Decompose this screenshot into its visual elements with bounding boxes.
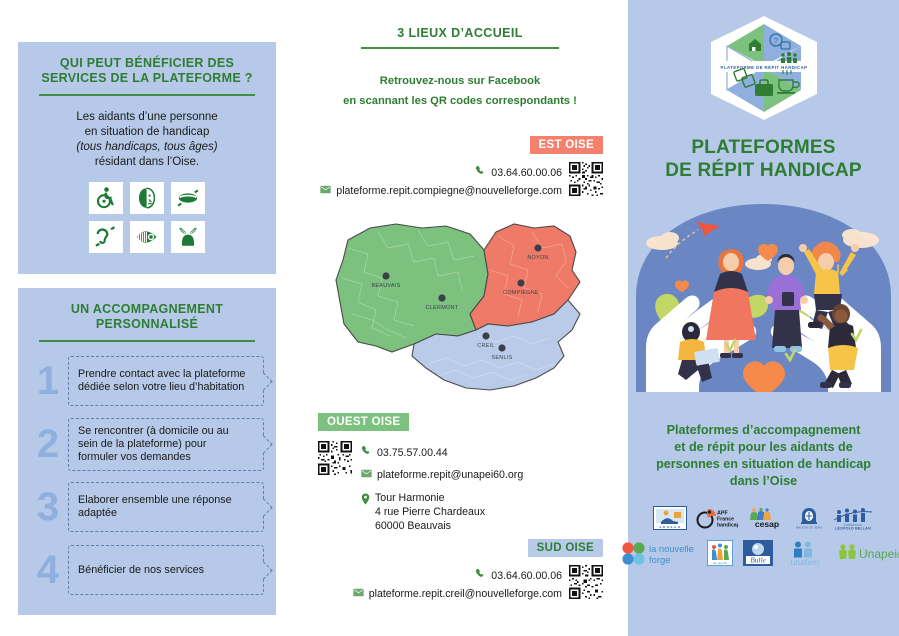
partner-logo-fondation-leopold-bellan: FONDATION LÉOPOLD BELLAN bbox=[831, 506, 875, 530]
steps-title-line2: PERSONNALISÉ bbox=[32, 317, 262, 332]
svg-text:LÉOPOLD BELLAN: LÉOPOLD BELLAN bbox=[835, 525, 871, 530]
who-body-line4: résidant dans l’Oise. bbox=[36, 155, 258, 170]
visual-disability-icon bbox=[130, 221, 164, 253]
step-text: Prendre contact avec la plateforme dédié… bbox=[78, 368, 247, 394]
step-item: 1 Prendre contact avec la plateforme déd… bbox=[28, 356, 264, 406]
disability-icon-grid bbox=[18, 182, 276, 253]
sud-badge-row: SUD OISE bbox=[318, 538, 603, 557]
ouest-phone: 03.75.57.00.44 bbox=[377, 446, 448, 461]
who-body-line1: Les aidants d’une personne bbox=[36, 110, 258, 125]
map-city-label: BEAUVAIS bbox=[372, 283, 401, 289]
step-box: Prendre contact avec la plateforme dédié… bbox=[68, 356, 264, 406]
map-city-marker bbox=[438, 294, 445, 301]
map-city-label: NOYON bbox=[527, 255, 548, 261]
est-oise-badge: EST OISE bbox=[530, 136, 603, 154]
email-icon bbox=[361, 468, 372, 483]
cover-subtitle-line4: dans l’Oise bbox=[636, 473, 891, 490]
personalised-support-panel: UN ACCOMPAGNEMENT PERSONNALISÉ 1 Prendre… bbox=[18, 288, 276, 615]
ouest-address-line1: Tour Harmonie bbox=[375, 491, 485, 505]
sud-contact-row: 03.64.60.00.06 plateforme.repit.creil@no… bbox=[318, 565, 603, 605]
est-contact-row: 03.64.60.00.06 plateforme.repit.compiegn… bbox=[318, 162, 603, 202]
ouest-address-line: Tour Harmonie 4 rue Pierre Chardeaux 600… bbox=[361, 491, 603, 533]
map-city-marker bbox=[534, 244, 541, 251]
ouest-address-line2: 4 rue Pierre Chardeaux bbox=[375, 505, 485, 519]
who-panel-title: QUI PEUT BÉNÉFICIER DES SERVICES DE LA P… bbox=[18, 42, 276, 86]
steps-title-line1: UN ACCOMPAGNEMENT bbox=[32, 302, 262, 317]
svg-text:handicap: handicap bbox=[717, 523, 738, 529]
step-item: 4 Bénéficier de nos services bbox=[28, 545, 264, 595]
map-city-label: CREIL bbox=[477, 343, 494, 349]
svg-text:A.D.S.E.A.O: A.D.S.E.A.O bbox=[659, 525, 681, 529]
facebook-callout-line1: Retrouvez-nous sur Facebook bbox=[300, 71, 620, 91]
ouest-email: plateforme.repit@unapei60.org bbox=[377, 468, 523, 483]
step-item: 2 Se rencontrer (à domicile ou au sein d… bbox=[28, 419, 264, 469]
svg-text:les pep 60: les pep 60 bbox=[713, 561, 727, 565]
cover-subtitle-line2: et de répit pour les aidants de bbox=[636, 439, 891, 456]
step-text: Elaborer ensemble une réponse adaptée bbox=[78, 494, 247, 520]
email-icon bbox=[353, 587, 364, 602]
sud-email: plateforme.repit.creil@nouvelleforge.com bbox=[369, 587, 562, 602]
map-city-marker bbox=[517, 279, 524, 286]
location-pin-icon bbox=[361, 491, 370, 510]
partner-logo-cesap: cesap bbox=[747, 506, 787, 530]
cover-panel: PLATEFORME DE RÉPIT HANDICAP ? bbox=[628, 0, 899, 636]
map-city-label: CLERMONT bbox=[426, 305, 459, 311]
cover-title-line1: PLATEFORMES bbox=[628, 136, 899, 159]
ouest-phone-line: 03.75.57.00.44 bbox=[361, 445, 603, 461]
ouest-oise-qr-code bbox=[318, 441, 352, 475]
cognitive-disability-icon bbox=[171, 221, 205, 253]
est-phone: 03.64.60.00.06 bbox=[491, 166, 562, 181]
locations-title-divider bbox=[361, 47, 559, 49]
ouest-address-line3: 60000 Beauvais bbox=[375, 519, 485, 533]
map-city-marker bbox=[498, 344, 505, 351]
phone-icon bbox=[475, 165, 486, 181]
svg-text:Unapei: Unapei bbox=[859, 547, 897, 561]
who-body-line3: (tous handicaps, tous âges) bbox=[36, 140, 258, 155]
step-item: 3 Elaborer ensemble une réponse adaptée bbox=[28, 482, 264, 532]
partner-logo-pep: les pep 60 bbox=[707, 540, 733, 566]
svg-text:MAISON ST-JEAN: MAISON ST-JEAN bbox=[796, 526, 822, 530]
sud-phone: 03.64.60.00.06 bbox=[491, 569, 562, 584]
cover-title-line2: DE RÉPIT HANDICAP bbox=[628, 159, 899, 182]
email-icon bbox=[320, 184, 331, 199]
cover-subtitle: Plateformes d’accompagnement et de répit… bbox=[628, 422, 899, 490]
oise-department-map: BEAUVAIS CLERMONT CREIL SENLIS COMPIÈGNE… bbox=[318, 218, 603, 408]
step-number: 1 bbox=[28, 361, 68, 401]
est-badge-row: EST OISE bbox=[318, 135, 603, 154]
svg-text:Bulle: Bulle bbox=[750, 556, 766, 565]
locations-column: 3 LIEUX D’ACCUEIL Retrouvez-nous sur Fac… bbox=[300, 0, 620, 636]
who-body-line2: en situation de handicap bbox=[36, 125, 258, 140]
who-title-line1: QUI PEUT BÉNÉFICIER DES bbox=[32, 56, 262, 71]
locations-title: 3 LIEUX D’ACCUEIL bbox=[300, 26, 620, 40]
step-box: Se rencontrer (à domicile ou au sein de … bbox=[68, 418, 264, 471]
steps-list: 1 Prendre contact avec la plateforme déd… bbox=[18, 342, 276, 595]
partner-logo-unapei-60: Unapei 60 bbox=[837, 541, 899, 565]
facebook-callout-line2: en scannant les QR codes correspondants … bbox=[300, 91, 620, 111]
partner-logo-adsea: A.D.S.E.A.O bbox=[653, 506, 687, 530]
partner-logo-apf-france-handicap: APF France handicap bbox=[696, 506, 738, 530]
map-city-marker bbox=[482, 332, 489, 339]
steps-panel-title: UN ACCOMPAGNEMENT PERSONNALISÉ bbox=[18, 288, 276, 332]
partner-logo-la-nouvelle-forge: la nouvelle forge bbox=[619, 540, 697, 566]
map-city-label: COMPIÈGNE bbox=[503, 289, 539, 296]
svg-text:forge: forge bbox=[649, 554, 670, 565]
who-body-text: Les aidants d’une personne en situation … bbox=[18, 96, 276, 170]
partner-logo-maison-saint-jean: MAISON ST-JEAN bbox=[796, 506, 822, 530]
est-email-line: plateforme.repit.compiegne@nouvelleforge… bbox=[318, 184, 562, 199]
step-box: Bénéficier de nos services bbox=[68, 545, 264, 595]
step-number: 3 bbox=[28, 487, 68, 527]
partner-logos-row-2: la nouvelle forge les pep 60 bbox=[628, 540, 899, 566]
who-benefits-panel: QUI PEUT BÉNÉFICIER DES SERVICES DE LA P… bbox=[18, 42, 276, 274]
cover-title: PLATEFORMES DE RÉPIT HANDICAP bbox=[628, 136, 899, 182]
ouest-badge-row: OUEST OISE bbox=[318, 412, 603, 431]
ouest-oise-badge: OUEST OISE bbox=[318, 413, 409, 431]
platform-hexagon-logo: PLATEFORME DE RÉPIT HANDICAP ? bbox=[705, 14, 823, 122]
facebook-callout: Retrouvez-nous sur Facebook en scannant … bbox=[300, 71, 620, 111]
step-box: Elaborer ensemble une réponse adaptée bbox=[68, 482, 264, 532]
speech-disability-icon bbox=[171, 182, 205, 214]
ouest-contact-row: 03.75.57.00.44 plateforme.repit@unapei60… bbox=[318, 441, 603, 533]
svg-text:?: ? bbox=[774, 38, 778, 45]
est-phone-line: 03.64.60.00.06 bbox=[318, 165, 562, 181]
brochure-page: QUI PEUT BÉNÉFICIER DES SERVICES DE LA P… bbox=[0, 0, 899, 636]
partner-logo-unafam: unafam bbox=[783, 540, 827, 566]
step-number: 4 bbox=[28, 550, 68, 590]
svg-text:la nouvelle: la nouvelle bbox=[649, 543, 694, 554]
svg-text:cesap: cesap bbox=[754, 519, 778, 529]
cover-subtitle-line3: personnes en situation de handicap bbox=[636, 456, 891, 473]
cover-subtitle-line1: Plateformes d’accompagnement bbox=[636, 422, 891, 439]
sud-phone-line: 03.64.60.00.06 bbox=[318, 568, 562, 584]
map-city-marker bbox=[382, 272, 389, 279]
svg-text:unafam: unafam bbox=[790, 557, 819, 566]
who-title-line2: SERVICES DE LA PLATEFORME ? bbox=[32, 71, 262, 86]
sud-oise-block: SUD OISE 03.64.60.00.06 plateforme.rep bbox=[318, 538, 603, 605]
partner-logo-bulle: Bulle bbox=[743, 540, 773, 566]
sud-oise-badge: SUD OISE bbox=[528, 539, 603, 557]
phone-icon bbox=[475, 568, 486, 584]
est-email: plateforme.repit.compiegne@nouvelleforge… bbox=[336, 184, 562, 199]
hearing-disability-icon bbox=[89, 221, 123, 253]
sud-email-line: plateforme.repit.creil@nouvelleforge.com bbox=[318, 587, 562, 602]
sud-oise-qr-code bbox=[569, 565, 603, 599]
ouest-oise-block: OUEST OISE bbox=[318, 412, 603, 533]
step-text: Se rencontrer (à domicile ou au sein de … bbox=[78, 425, 247, 464]
ouest-email-line: plateforme.repit@unapei60.org bbox=[361, 468, 603, 483]
helping-hands-illustration bbox=[636, 196, 891, 406]
map-city-label: SENLIS bbox=[492, 355, 513, 361]
est-oise-qr-code bbox=[569, 162, 603, 196]
map-region-ouest bbox=[336, 224, 488, 352]
step-number: 2 bbox=[28, 424, 68, 464]
est-oise-block: EST OISE 03.64.60.00.06 plateforme.rep bbox=[318, 135, 603, 202]
phone-icon bbox=[361, 445, 372, 461]
partner-logos-row-1: A.D.S.E.A.O APF France handicap bbox=[628, 506, 899, 530]
step-text: Bénéficier de nos services bbox=[78, 564, 204, 577]
mental-disability-icon bbox=[130, 182, 164, 214]
wheelchair-icon bbox=[89, 182, 123, 214]
logo-center-text: PLATEFORME DE RÉPIT HANDICAP bbox=[720, 65, 807, 70]
map-svg: BEAUVAIS CLERMONT CREIL SENLIS COMPIÈGNE… bbox=[318, 218, 603, 408]
